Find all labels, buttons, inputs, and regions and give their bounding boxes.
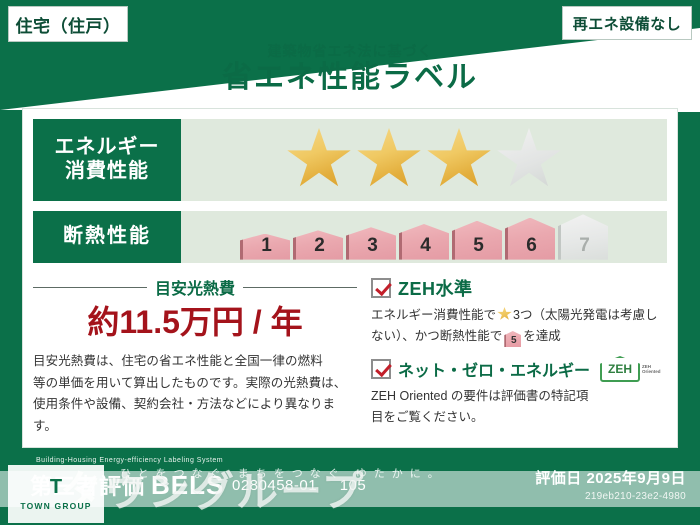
utility-cost-note-line1: 目安光熱費は、住宅の省エネ性能と全国一律の燃料 (33, 351, 357, 373)
energy-label-line1: エネルギー (55, 136, 160, 160)
zeh-body-end: を達成 (523, 329, 561, 343)
star-empty-icon (496, 128, 562, 192)
energy-label-card: 住宅（住戸） 再エネ設備なし 建築物省エネ法に基づく 省エネ性能ラベル エネルギ… (0, 0, 700, 525)
insulation-level-6: 6 (505, 218, 555, 260)
zeh-standard-title: ZEH水準 (371, 275, 667, 301)
net-zero-label: ネット・ゼロ・エネルギー (398, 357, 590, 381)
certificate-number: 0280458-01 (232, 477, 317, 494)
lower-section: 目安光熱費 約11.5万円 / 年 目安光熱費は、住宅の省エネ性能と全国一律の燃… (33, 275, 667, 435)
bels-japanese-label: 第三者評価 (30, 469, 145, 501)
utility-cost-note-line3: 使用条件や設備、契約会社・方法などにより異なります。 (33, 394, 357, 437)
energy-label-line2: 消費性能 (65, 160, 149, 184)
star-filled-icon (286, 128, 352, 192)
utility-cost-section: 目安光熱費 約11.5万円 / 年 目安光熱費は、住宅の省エネ性能と全国一律の燃… (33, 275, 363, 435)
utility-cost-heading: 目安光熱費 (33, 275, 357, 299)
zeh-logo-subtext: ZEH Oriented (642, 364, 661, 375)
insulation-level-3: 3 (346, 227, 396, 259)
utility-cost-note-line2: 等の単価を用いて算出したものです。実際の光熱費は、 (33, 373, 357, 395)
utility-cost-note: 目安光熱費は、住宅の省エネ性能と全国一律の燃料 等の単価を用いて算出したものです… (33, 351, 357, 437)
title-subtitle: 建築物省エネ法に基づく (0, 44, 700, 58)
bels-logo: 第三者評価 BELS (30, 469, 224, 501)
insulation-level-2: 2 (293, 230, 343, 259)
net-zero-body: ZEH Oriented の要件は評価書の特記項 目をご覧ください。 (371, 386, 667, 428)
evaluation-id: 219eb210-23e2-4980 (535, 491, 686, 502)
energy-performance-row: エネルギー 消費性能 (33, 119, 667, 201)
utility-cost-value: 約11.5万円 / 年 (33, 306, 357, 338)
insulation-level-label: 1 (240, 234, 290, 260)
insulation-level-4: 4 (399, 224, 449, 260)
checkbox-checked-icon (371, 278, 391, 298)
evaluation-date-value: 2025年9月9日 (586, 470, 686, 487)
evaluation-date-label: 評価日 (535, 470, 582, 487)
insulation-level-label: 5 (452, 221, 502, 260)
zeh-body-pre: エネルギー消費性能で (371, 308, 496, 322)
insulation-scale: 1234567 (240, 214, 608, 259)
zeh-standard-item: ZEH水準 エネルギー消費性能で3つ（太陽光発電は考慮しない）、かつ断熱性能で5… (371, 275, 667, 347)
insulation-level-label: 4 (399, 224, 449, 260)
insulation-level-label: 6 (505, 218, 555, 260)
energy-performance-value (181, 119, 667, 201)
bels-english-label: BELS (151, 470, 224, 501)
renewable-equipment-tag: 再エネ設備なし (562, 6, 692, 40)
star-rating (286, 128, 562, 192)
zeh-standard-body: エネルギー消費性能で3つ（太陽光発電は考慮しない）、かつ断熱性能で5を達成 (371, 305, 667, 347)
net-zero-body-line1: ZEH Oriented の要件は評価書の特記項 (371, 386, 667, 407)
star-filled-icon (426, 128, 492, 192)
insulation-level-5: 5 (452, 221, 502, 260)
insulation-level-label: 2 (293, 230, 343, 259)
house-level-icon: 5 (504, 331, 521, 347)
energy-performance-label: エネルギー 消費性能 (33, 119, 181, 201)
zeh-section: ZEH水準 エネルギー消費性能で3つ（太陽光発電は考慮しない）、かつ断熱性能で5… (363, 275, 667, 435)
page-number: 105 (340, 477, 367, 494)
star-icon (497, 307, 512, 321)
building-type-tag: 住宅（住戸） (8, 6, 128, 42)
label-footer: Building-Housing Energy-efficiency Label… (0, 451, 700, 525)
heading-rule-left (33, 287, 147, 288)
star-filled-icon (356, 128, 422, 192)
insulation-level-1: 1 (240, 234, 290, 260)
checkbox-checked-icon-2 (371, 359, 391, 379)
utility-cost-heading-text: 目安光熱費 (155, 275, 235, 299)
zeh-logo-badge: ZEH ZEH Oriented (600, 356, 661, 382)
evaluation-info: 評価日 2025年9月9日 219eb210-23e2-4980 (535, 467, 686, 502)
page-title: 省エネ性能ラベル (0, 63, 700, 93)
insulation-level-label: 7 (558, 214, 608, 259)
insulation-performance-row: 断熱性能 1234567 (33, 211, 667, 263)
insulation-performance-value: 1234567 (181, 211, 667, 263)
label-content-panel: エネルギー 消費性能 断熱性能 1234567 目安光熱費 約11.5万 (22, 108, 678, 448)
certificate-number-row: 0280458-01 105 (232, 477, 366, 494)
insulation-performance-label: 断熱性能 (33, 211, 181, 263)
bels-full-name: Building-Housing Energy-efficiency Label… (36, 457, 223, 464)
heading-rule-right (243, 287, 357, 288)
net-zero-energy-item: ネット・ゼロ・エネルギー ZEH ZEH Oriented ZEH Orient… (371, 356, 667, 428)
zeh-standard-label: ZEH水準 (398, 275, 473, 301)
insulation-level-label: 3 (346, 227, 396, 259)
evaluation-date: 評価日 2025年9月9日 (535, 467, 686, 488)
zeh-body-star-count: 3つ（太陽光発電 (513, 308, 607, 322)
net-zero-body-line2: 目をご覧ください。 (371, 407, 667, 428)
net-zero-title: ネット・ゼロ・エネルギー ZEH ZEH Oriented (371, 356, 667, 382)
insulation-level-7: 7 (558, 214, 608, 259)
label-title-block: 建築物省エネ法に基づく 省エネ性能ラベル (0, 44, 700, 93)
zeh-house-icon: ZEH (600, 356, 640, 382)
